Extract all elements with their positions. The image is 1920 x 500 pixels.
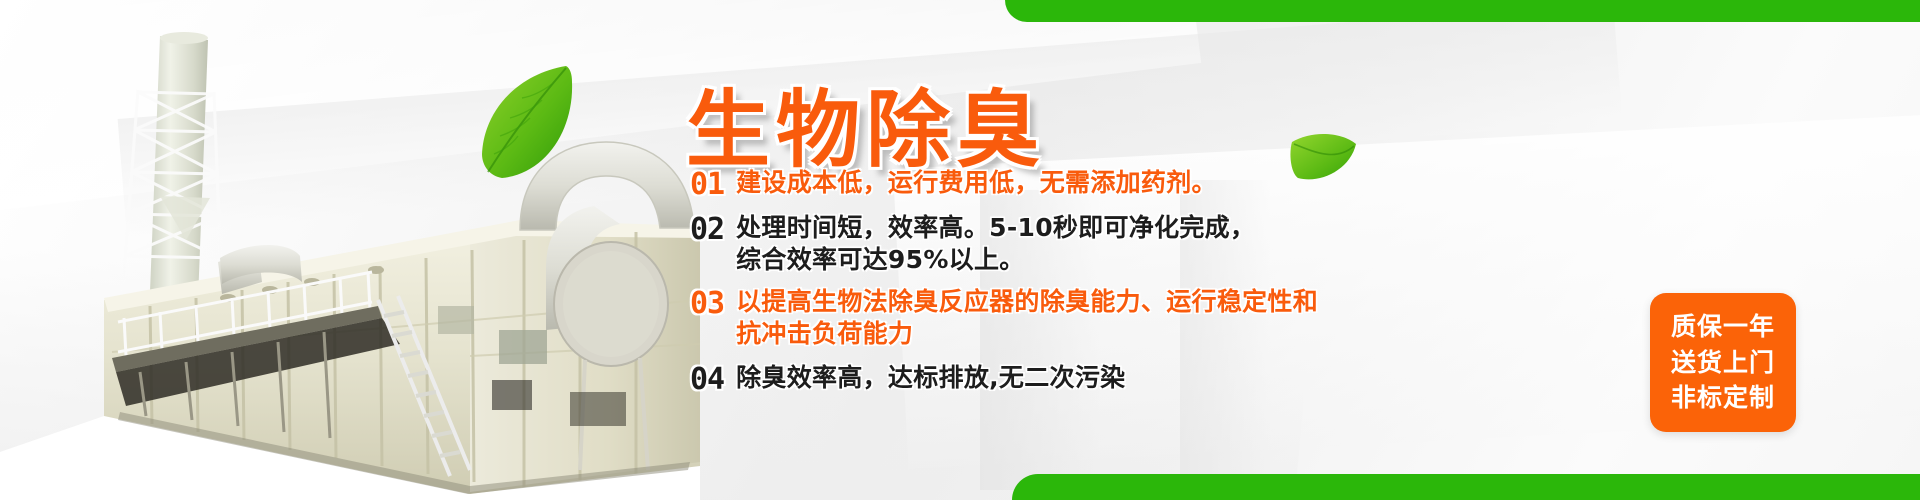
feature-item-02: 02 处理时间短，效率高。5-10秒即可净化完成， 综合效率可达95%以上。: [690, 212, 1690, 276]
green-bar-top: [1005, 0, 1920, 22]
badge-line-warranty: 质保一年: [1671, 309, 1775, 345]
product-photo: [0, 0, 700, 500]
feature-text: 处理时间短，效率高。5-10秒即可净化完成， 综合效率可达95%以上。: [736, 212, 1690, 276]
feature-text: 除臭效率高，达标排放,无二次污染: [736, 362, 1690, 394]
feature-item-04: 04 除臭效率高，达标排放,无二次污染: [690, 362, 1690, 397]
feature-list: 01 建设成本低，运行费用低，无需添加药剂。 02 处理时间短，效率高。5-10…: [690, 165, 1690, 402]
feature-number: 01: [690, 167, 736, 202]
feature-number: 04: [690, 362, 736, 397]
feature-text: 建设成本低，运行费用低，无需添加药剂。: [736, 167, 1690, 199]
badge-line-custom: 非标定制: [1671, 380, 1775, 416]
green-bar-bottom: [1012, 474, 1920, 500]
service-badge: 质保一年 送货上门 非标定制: [1650, 293, 1796, 432]
feature-number: 02: [690, 212, 736, 247]
product-banner: 生物除臭 01 建设成本低，运行费用低，无需添加药剂。 02 处理时间短，效率高…: [0, 0, 1920, 500]
feature-item-03: 03 以提高生物法除臭反应器的除臭能力、运行稳定性和 抗冲击负荷能力: [690, 286, 1690, 350]
feature-text: 以提高生物法除臭反应器的除臭能力、运行稳定性和 抗冲击负荷能力: [736, 286, 1690, 350]
feature-number: 03: [690, 286, 736, 321]
green-leaf-icon: [478, 62, 578, 182]
feature-item-01: 01 建设成本低，运行费用低，无需添加药剂。: [690, 167, 1690, 202]
badge-line-delivery: 送货上门: [1671, 345, 1775, 381]
